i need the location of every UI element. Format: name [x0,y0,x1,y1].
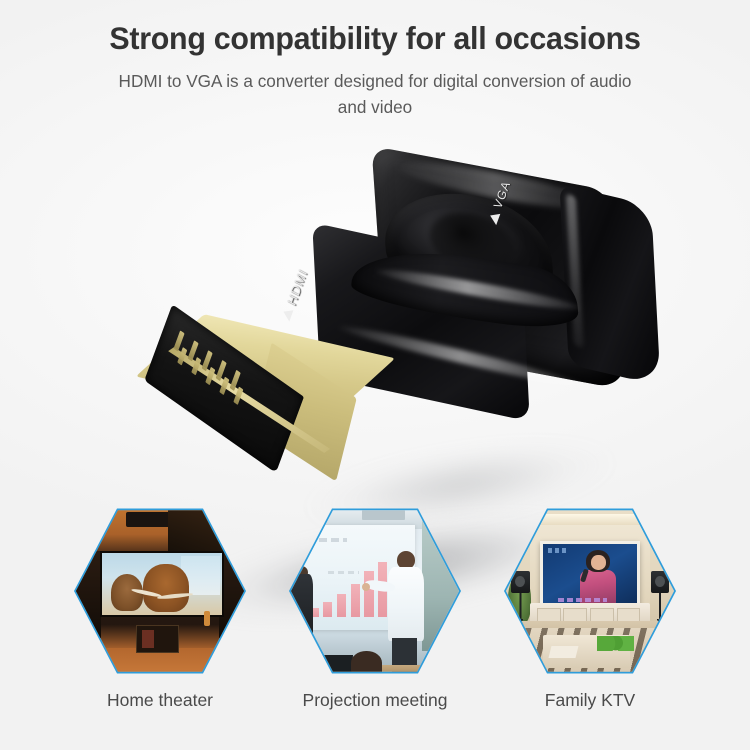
hdmi-to-vga-adapter: HDMI VGA [140,160,640,500]
product-image: HDMI VGA [0,150,750,500]
ceiling-shadow [168,507,244,551]
presenter-head [397,551,415,569]
tv-channel-logo [548,548,567,552]
table-book [548,646,578,658]
scene-label-projection-meeting: Projection meeting [289,690,461,711]
tv-singer-face [591,555,606,570]
presenter-hand [362,583,370,591]
page-title: Strong compatibility for all occasions [13,0,737,57]
tv-subtitle-bar [558,598,607,602]
presenter-body [388,567,423,641]
header: Strong compatibility for all occasions H… [0,0,750,120]
hdmi-label-text: HDMI [284,266,310,308]
slide-title-text [307,538,347,542]
scene-label-family-ktv: Family KTV [504,690,676,711]
home-theater-illustration [76,507,244,675]
subtitle-line-1: HDMI to VGA is a converter designed for … [8,68,743,94]
hexagon-frame [504,505,676,677]
subtitle-line-2: and video [8,94,743,120]
television [540,541,640,611]
foreground-attendee-head [351,651,381,675]
projection-meeting-illustration [291,507,459,675]
laptop [313,655,352,675]
use-case-scenes: Home theater [0,505,750,750]
ceiling-vent [362,510,406,520]
projector-screen [100,551,225,617]
movie-mammoth-large [143,564,189,612]
triangle-marker-icon [281,306,293,322]
hexagon-frame [289,505,461,677]
scene-projection-meeting: Projection meeting [289,505,461,711]
attendee-body [291,574,313,634]
scene-family-ktv: Family KTV [504,505,676,711]
ceiling-cove-light [516,514,664,526]
speaker-right [651,571,669,593]
fruit-bowl [597,636,634,651]
scene-photo-projection-meeting [291,507,459,675]
family-ktv-illustration [506,507,674,675]
media-console [136,625,178,654]
scene-home-theater: Home theater [74,505,246,711]
page-subtitle: HDMI to VGA is a converter designed for … [8,57,743,120]
hexagon-frame [74,505,246,677]
theater-left-wall [76,551,101,638]
hdmi-port-label: HDMI [279,266,311,323]
product-marketing-page: Strong compatibility for all occasions H… [0,0,750,750]
meeting-right-wall [422,517,459,651]
scene-label-home-theater: Home theater [74,690,246,711]
speaker-left [511,571,529,593]
scene-photo-home-theater [76,507,244,675]
scene-photo-family-ktv [506,507,674,675]
wall-lamp [204,611,211,626]
